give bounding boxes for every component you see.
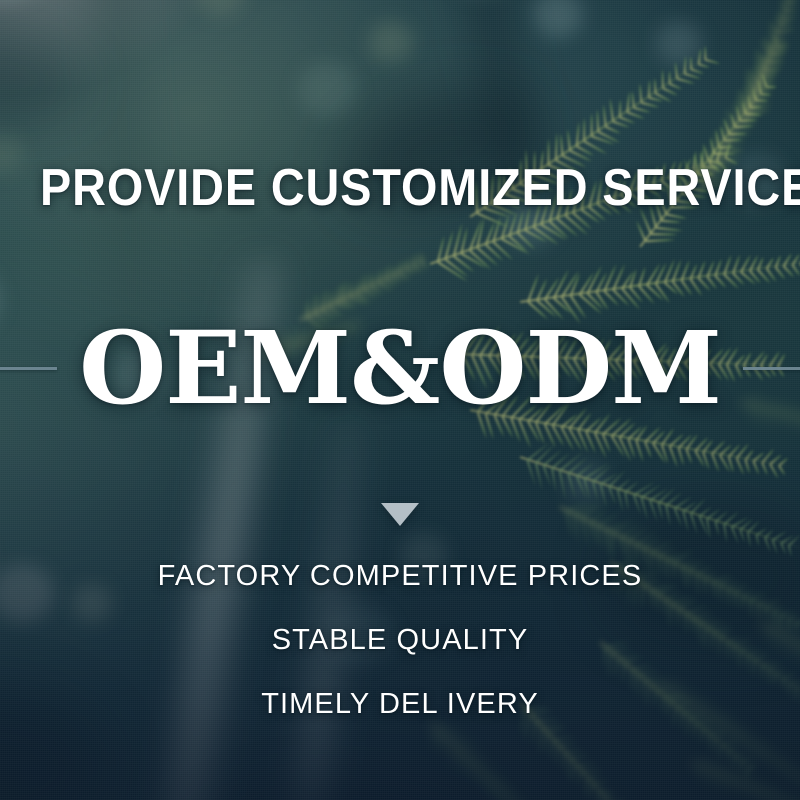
brand-row: OEM&ODM — [0, 318, 800, 418]
tagline-2: STABLE QUALITY — [0, 626, 800, 655]
divider-rule-right — [743, 367, 800, 370]
page-title: PROVIDE CUSTOMIZED SERVICE — [40, 162, 760, 214]
triangle-down-icon — [381, 503, 419, 526]
promo-banner: PROVIDE CUSTOMIZED SERVICE OEM&ODM FACTO… — [0, 0, 800, 800]
banner-content: PROVIDE CUSTOMIZED SERVICE OEM&ODM FACTO… — [0, 0, 800, 800]
brand-title: OEM&ODM — [79, 318, 721, 418]
tagline-list: FACTORY COMPETITIVE PRICESSTABLE QUALITY… — [0, 562, 800, 719]
tagline-1: FACTORY COMPETITIVE PRICES — [0, 562, 800, 591]
tagline-3: TIMELY DEL IVERY — [0, 690, 800, 719]
divider-rule-left — [0, 367, 57, 370]
